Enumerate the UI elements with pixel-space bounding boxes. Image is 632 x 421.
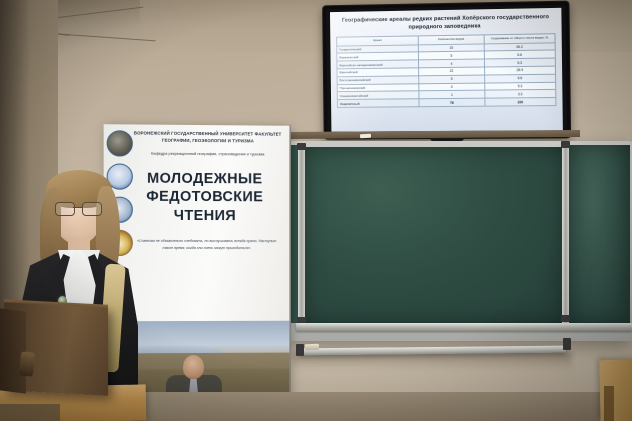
- glasses-icon: [54, 202, 102, 214]
- glasses-lens-left: [55, 202, 75, 216]
- chalkboard-cap-top-right: [561, 141, 570, 148]
- board-eraser[interactable]: [305, 344, 319, 350]
- cell-areal: Эндемичный: [337, 99, 419, 107]
- portrait-head: [183, 355, 204, 379]
- banner-university-line: ВОРОНЕЖСКИЙ ГОСУДАРСТВЕННЫЙ УНИВЕРСИТЕТ …: [112, 130, 282, 145]
- chalkboard-cap-top-left: [297, 143, 306, 150]
- table-row: Эндемичный76100: [337, 98, 556, 108]
- chalkboard-main-panel: [304, 147, 564, 323]
- side-desk-leg: [604, 386, 614, 421]
- glasses-lens-right: [82, 202, 102, 216]
- slide-table: Ареал Количество видов Содержание от общ…: [336, 33, 556, 108]
- foreground-chair: [0, 404, 60, 421]
- banner-department-line: Кафедра рекреационной географии, странов…: [112, 151, 282, 158]
- chalkboard-right-panel: [568, 145, 630, 323]
- chalkboard-cap-bottom-right: [561, 315, 570, 322]
- lower-rail-cap-left: [296, 344, 304, 356]
- classroom-photo: Географические ареалы редких растений Хо…: [0, 0, 632, 421]
- chalkboard-post-right: [562, 143, 569, 323]
- presentation-slide: Географические ареалы редких растений Хо…: [330, 8, 563, 132]
- slide-title: Географические ареалы редких растений Хо…: [336, 12, 556, 36]
- chalkboard-bottom-rail: [296, 323, 632, 331]
- slide-table-body: Голарктический1546.2Евразиатский56.6Евро…: [337, 42, 556, 107]
- cell-species-count: 76: [419, 98, 485, 106]
- tv-screen: Географические ареалы редких растений Хо…: [330, 8, 563, 132]
- glasses-bridge: [73, 207, 83, 208]
- lectern-damage-mark: [19, 351, 35, 376]
- chalkboard-post-left: [298, 145, 305, 325]
- chalkboard: [288, 141, 632, 341]
- lower-rail-cap-right: [563, 338, 571, 350]
- chalk-stick: [360, 134, 371, 139]
- cell-share-percent: 100: [485, 98, 556, 106]
- wall-television[interactable]: Географические ареалы редких растений Хо…: [323, 2, 570, 139]
